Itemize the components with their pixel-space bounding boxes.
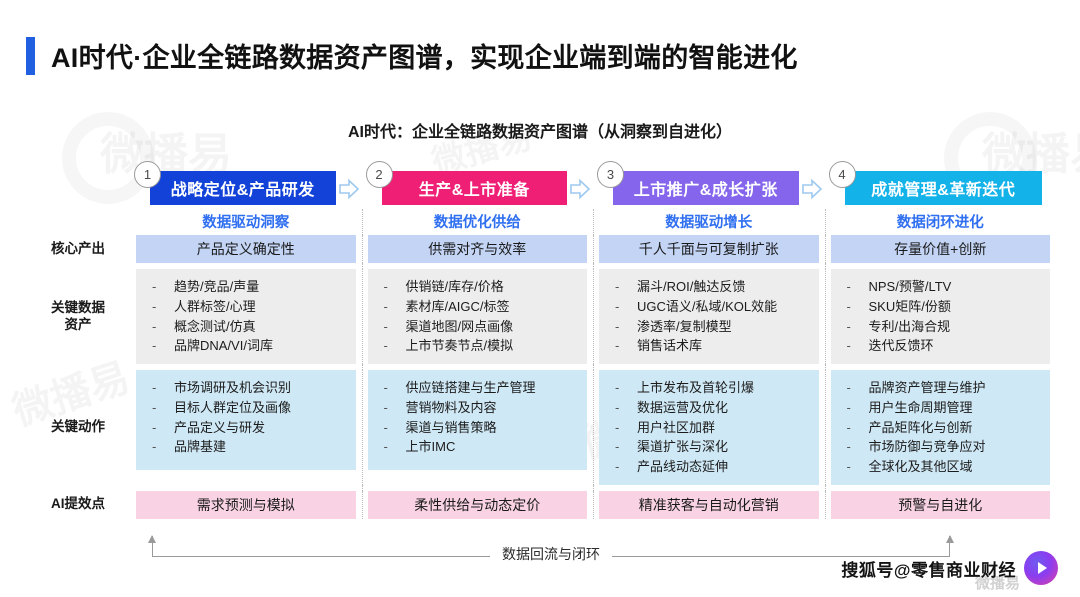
- stage-arrow-icon-1: [338, 178, 360, 200]
- list-item-text: 素材库/AIGC/标签: [406, 297, 510, 317]
- bullet-dash: -: [615, 297, 637, 317]
- bullet-dash: -: [384, 277, 406, 297]
- list-item: -数据运营及优化: [615, 398, 815, 418]
- list-item: -趋势/竞品/声量: [152, 277, 352, 297]
- list-item-text: 产品矩阵化与创新: [869, 418, 973, 438]
- list-item: -用户生命周期管理: [847, 398, 1047, 418]
- list-item-text: 渠道地图/网点画像: [406, 317, 514, 337]
- list-item-text: UGC语义/私域/KOL效能: [637, 297, 777, 317]
- list-item-text: 漏斗/ROI/触达反馈: [637, 277, 745, 297]
- row-label-core-output: 核心产出: [26, 235, 130, 263]
- list-item: -供应链搭建与生产管理: [384, 378, 584, 398]
- stage-banner-1[interactable]: 战略定位&产品研发: [150, 171, 336, 205]
- bullet-dash: -: [615, 418, 637, 438]
- actions-list-2: -供应链搭建与生产管理 -营销物料及内容 -渠道与销售策略 -上市IMC: [368, 370, 588, 470]
- list-item: -供销链/库存/价格: [384, 277, 584, 297]
- row-label-key-data-assets-line1: 关键数据: [51, 300, 105, 317]
- feedback-loop: 数据回流与闭环: [152, 536, 950, 566]
- bullet-dash: -: [152, 297, 174, 317]
- bullet-dash: -: [152, 398, 174, 418]
- ai-point-4: 预警与自进化: [831, 491, 1051, 519]
- list-item-text: 用户社区加群: [637, 418, 715, 438]
- driver-caption-2: 数据优化供给: [368, 209, 588, 235]
- assets-list-3: -漏斗/ROI/触达反馈 -UGC语义/私域/KOL效能 -渗透率/复制模型 -…: [599, 269, 819, 364]
- list-item-text: 供销链/库存/价格: [406, 277, 504, 297]
- stage-title-3: 上市推广&成长扩张: [634, 176, 778, 200]
- stage-column-2: 生产&上市准备 2: [362, 165, 594, 205]
- driver-caption-3: 数据驱动增长: [599, 209, 819, 235]
- row-label-spacer: [26, 165, 130, 205]
- actions-cell-3: -上市发布及首轮引爆 -数据运营及优化 -用户社区加群 -渠道扩张与深化 -产品…: [593, 370, 825, 485]
- stage-title-4: 成就管理&革新迭代: [871, 176, 1015, 200]
- actions-cell-2: -供应链搭建与生产管理 -营销物料及内容 -渠道与销售策略 -上市IMC: [362, 370, 594, 485]
- core-output-row: 核心产出 产品定义确定性 供需对齐与效率 千人千面与可复制扩张 存量价值+创新: [26, 235, 1056, 263]
- stage-banner-3[interactable]: 上市推广&成长扩张: [613, 171, 799, 205]
- ai-point-2: 柔性供给与动态定价: [368, 491, 588, 519]
- row-label-ai-leverage: AI提效点: [26, 491, 130, 519]
- chart-subtitle: AI时代：企业全链路数据资产图谱（从洞察到自进化）: [0, 118, 1080, 142]
- list-item-text: 渗透率/复制模型: [637, 317, 732, 337]
- list-item-text: 营销物料及内容: [406, 398, 497, 418]
- list-item: -渠道扩张与深化: [615, 437, 815, 457]
- bullet-dash: -: [384, 418, 406, 438]
- play-triangle: [1038, 562, 1047, 574]
- assets-list-2: -供销链/库存/价格 -素材库/AIGC/标签 -渠道地图/网点画像 -上市节奏…: [368, 269, 588, 364]
- key-actions-row: 关键动作 -市场调研及机会识别 -目标人群定位及画像 -产品定义与研发 -品牌基…: [26, 370, 1056, 485]
- key-data-assets-row: 关键数据 资产 -趋势/竞品/声量 -人群标签/心理 -概念测试/仿真 -品牌D…: [26, 269, 1056, 364]
- bullet-dash: -: [152, 418, 174, 438]
- list-item-text: 全球化及其他区域: [869, 457, 973, 477]
- slide-canvas: 微播易 微播易 微播易 微播易 微播易 微播易 AI时代·企业全链路数据资产图谱…: [0, 0, 1080, 597]
- driver-caption-4: 数据闭环进化: [831, 209, 1051, 235]
- core-output-cell-2: 供需对齐与效率: [362, 235, 594, 263]
- stage-title-1: 战略定位&产品研发: [171, 176, 315, 200]
- list-item-text: 人群标签/心理: [174, 297, 256, 317]
- list-item-text: 市场防御与竞争应对: [869, 437, 986, 457]
- list-item: -上市发布及首轮引爆: [615, 378, 815, 398]
- list-item-text: 品牌DNA/VI/词库: [174, 336, 273, 356]
- list-item: -SKU矩阵/份额: [847, 297, 1047, 317]
- list-item-text: 专利/出海合规: [869, 317, 951, 337]
- row-label-key-data-assets-line2: 资产: [51, 317, 105, 334]
- stage-arrow-icon-3: [801, 178, 823, 200]
- page-header: AI时代·企业全链路数据资产图谱，实现企业端到端的智能进化: [26, 36, 798, 75]
- list-item-text: 品牌资产管理与维护: [869, 378, 986, 398]
- list-item: -素材库/AIGC/标签: [384, 297, 584, 317]
- stage-number-3: 3: [597, 161, 624, 188]
- bullet-dash: -: [847, 297, 869, 317]
- driver-cell-4: 数据闭环进化: [825, 209, 1057, 235]
- stage-banner-4[interactable]: 成就管理&革新迭代: [845, 171, 1043, 205]
- feedback-arrow-head-left-icon: [148, 535, 156, 543]
- list-item-text: 目标人群定位及画像: [174, 398, 291, 418]
- list-item-text: 用户生命周期管理: [869, 398, 973, 418]
- stage-column-1: 战略定位&产品研发 1: [130, 165, 362, 205]
- assets-list-1: -趋势/竞品/声量 -人群标签/心理 -概念测试/仿真 -品牌DNA/VI/词库: [136, 269, 356, 364]
- driver-cell-2: 数据优化供给: [362, 209, 594, 235]
- bullet-dash: -: [152, 317, 174, 337]
- assets-cell-1: -趋势/竞品/声量 -人群标签/心理 -概念测试/仿真 -品牌DNA/VI/词库: [130, 269, 362, 364]
- list-item-text: 上市发布及首轮引爆: [637, 378, 754, 398]
- ai-cell-4: 预警与自进化: [825, 491, 1057, 519]
- list-item-text: 渠道与销售策略: [406, 418, 497, 438]
- stage-number-4: 4: [829, 161, 856, 188]
- bullet-dash: -: [847, 398, 869, 418]
- bullet-dash: -: [847, 317, 869, 337]
- core-output-cell-4: 存量价值+创新: [825, 235, 1057, 263]
- assets-cell-4: -NPS/预警/LTV -SKU矩阵/份额 -专利/出海合规 -迭代反馈环: [825, 269, 1057, 364]
- bullet-dash: -: [384, 437, 406, 457]
- list-item-text: 上市节奏节点/模拟: [406, 336, 514, 356]
- feedback-arrow-head-right-icon: [946, 535, 954, 543]
- ai-point-1: 需求预测与模拟: [136, 491, 356, 519]
- bullet-dash: -: [847, 378, 869, 398]
- list-item: -用户社区加群: [615, 418, 815, 438]
- list-item: -渠道地图/网点画像: [384, 317, 584, 337]
- bullet-dash: -: [615, 457, 637, 477]
- ai-cell-1: 需求预测与模拟: [130, 491, 362, 519]
- list-item: -渠道与销售策略: [384, 418, 584, 438]
- bullet-dash: -: [847, 437, 869, 457]
- list-item: -品牌基建: [152, 437, 352, 457]
- ai-cell-2: 柔性供给与动态定价: [362, 491, 594, 519]
- actions-list-1: -市场调研及机会识别 -目标人群定位及画像 -产品定义与研发 -品牌基建: [136, 370, 356, 470]
- page-title: AI时代·企业全链路数据资产图谱，实现企业端到端的智能进化: [51, 36, 798, 75]
- list-item-text: 渠道扩张与深化: [637, 437, 728, 457]
- list-item-text: 产品定义与研发: [174, 418, 265, 438]
- core-output-value-4: 存量价值+创新: [831, 235, 1051, 263]
- actions-list-4: -品牌资产管理与维护 -用户生命周期管理 -产品矩阵化与创新 -市场防御与竞争应…: [831, 370, 1051, 485]
- play-circle-icon: [1024, 551, 1058, 585]
- list-item-text: 迭代反馈环: [869, 336, 934, 356]
- bullet-dash: -: [384, 336, 406, 356]
- list-item: -市场防御与竞争应对: [847, 437, 1047, 457]
- list-item: -概念测试/仿真: [152, 317, 352, 337]
- list-item: -品牌DNA/VI/词库: [152, 336, 352, 356]
- footer: 搜狐号@零售商业财经: [841, 551, 1058, 585]
- ai-leverage-row: AI提效点 需求预测与模拟 柔性供给与动态定价 精准获客与自动化营销 预警与自进…: [26, 491, 1056, 519]
- pipeline-grid: 战略定位&产品研发 1 生产&上市准备 2: [26, 165, 1056, 519]
- stage-column-3: 上市推广&成长扩张 3: [593, 165, 825, 205]
- core-output-value-2: 供需对齐与效率: [368, 235, 588, 263]
- list-item-text: SKU矩阵/份额: [869, 297, 951, 317]
- list-item: -营销物料及内容: [384, 398, 584, 418]
- list-item: -漏斗/ROI/触达反馈: [615, 277, 815, 297]
- list-item: -产品矩阵化与创新: [847, 418, 1047, 438]
- bullet-dash: -: [615, 317, 637, 337]
- bullet-dash: -: [847, 418, 869, 438]
- row-label-key-actions: 关键动作: [26, 370, 130, 485]
- driver-cell-1: 数据驱动洞察: [130, 209, 362, 235]
- stage-column-4: 成就管理&革新迭代 4: [825, 165, 1057, 205]
- driver-cell-3: 数据驱动增长: [593, 209, 825, 235]
- stage-number-1: 1: [134, 161, 161, 188]
- list-item: -市场调研及机会识别: [152, 378, 352, 398]
- list-item-text: 销售话术库: [637, 336, 702, 356]
- core-output-cell-1: 产品定义确定性: [130, 235, 362, 263]
- list-item-text: 市场调研及机会识别: [174, 378, 291, 398]
- assets-cell-3: -漏斗/ROI/触达反馈 -UGC语义/私域/KOL效能 -渗透率/复制模型 -…: [593, 269, 825, 364]
- bullet-dash: -: [152, 336, 174, 356]
- list-item-text: 概念测试/仿真: [174, 317, 256, 337]
- stage-arrow-icon-2: [569, 178, 591, 200]
- driver-caption-row: 数据驱动洞察 数据优化供给 数据驱动增长 数据闭环进化: [26, 209, 1056, 235]
- header-accent-bar: [26, 37, 35, 75]
- list-item-text: 供应链搭建与生产管理: [406, 378, 536, 398]
- list-item-text: 上市IMC: [406, 437, 456, 457]
- actions-cell-1: -市场调研及机会识别 -目标人群定位及画像 -产品定义与研发 -品牌基建: [130, 370, 362, 485]
- feedback-label: 数据回流与闭环: [490, 544, 612, 564]
- assets-cell-2: -供销链/库存/价格 -素材库/AIGC/标签 -渠道地图/网点画像 -上市节奏…: [362, 269, 594, 364]
- stage-header-row: 战略定位&产品研发 1 生产&上市准备 2: [26, 165, 1056, 205]
- assets-list-4: -NPS/预警/LTV -SKU矩阵/份额 -专利/出海合规 -迭代反馈环: [831, 269, 1051, 364]
- list-item: -目标人群定位及画像: [152, 398, 352, 418]
- list-item: -产品定义与研发: [152, 418, 352, 438]
- bullet-dash: -: [152, 378, 174, 398]
- bullet-dash: -: [847, 336, 869, 356]
- ai-cell-3: 精准获客与自动化营销: [593, 491, 825, 519]
- bullet-dash: -: [615, 277, 637, 297]
- bullet-dash: -: [384, 378, 406, 398]
- actions-cell-4: -品牌资产管理与维护 -用户生命周期管理 -产品矩阵化与创新 -市场防御与竞争应…: [825, 370, 1057, 485]
- core-output-value-1: 产品定义确定性: [136, 235, 356, 263]
- list-item-text: NPS/预警/LTV: [869, 277, 952, 297]
- bullet-dash: -: [384, 398, 406, 418]
- list-item: -上市节奏节点/模拟: [384, 336, 584, 356]
- row-label-key-data-assets: 关键数据 资产: [26, 269, 130, 364]
- list-item: -全球化及其他区域: [847, 457, 1047, 477]
- actions-list-3: -上市发布及首轮引爆 -数据运营及优化 -用户社区加群 -渠道扩张与深化 -产品…: [599, 370, 819, 485]
- stage-title-2: 生产&上市准备: [419, 176, 530, 200]
- bullet-dash: -: [615, 398, 637, 418]
- core-output-value-3: 千人千面与可复制扩张: [599, 235, 819, 263]
- bullet-dash: -: [152, 277, 174, 297]
- bullet-dash: -: [384, 317, 406, 337]
- list-item-text: 品牌基建: [174, 437, 226, 457]
- footer-account-name: 搜狐号@零售商业财经: [841, 556, 1016, 581]
- bullet-dash: -: [615, 336, 637, 356]
- list-item: -品牌资产管理与维护: [847, 378, 1047, 398]
- bullet-dash: -: [152, 437, 174, 457]
- stage-number-2: 2: [366, 161, 393, 188]
- list-item: -专利/出海合规: [847, 317, 1047, 337]
- list-item-text: 数据运营及优化: [637, 398, 728, 418]
- ai-point-3: 精准获客与自动化营销: [599, 491, 819, 519]
- driver-caption-1: 数据驱动洞察: [136, 209, 356, 235]
- list-item: -迭代反馈环: [847, 336, 1047, 356]
- bullet-dash: -: [847, 457, 869, 477]
- row-label-spacer-2: [26, 209, 130, 235]
- list-item: -UGC语义/私域/KOL效能: [615, 297, 815, 317]
- bullet-dash: -: [384, 297, 406, 317]
- bullet-dash: -: [615, 437, 637, 457]
- list-item: -销售话术库: [615, 336, 815, 356]
- list-item: -NPS/预警/LTV: [847, 277, 1047, 297]
- bullet-dash: -: [847, 277, 869, 297]
- bullet-dash: -: [615, 378, 637, 398]
- list-item: -渗透率/复制模型: [615, 317, 815, 337]
- core-output-cell-3: 千人千面与可复制扩张: [593, 235, 825, 263]
- list-item-text: 产品线动态延伸: [637, 457, 728, 477]
- list-item: -人群标签/心理: [152, 297, 352, 317]
- list-item: -产品线动态延伸: [615, 457, 815, 477]
- stage-banner-2[interactable]: 生产&上市准备: [382, 171, 568, 205]
- list-item: -上市IMC: [384, 437, 584, 457]
- list-item-text: 趋势/竞品/声量: [174, 277, 259, 297]
